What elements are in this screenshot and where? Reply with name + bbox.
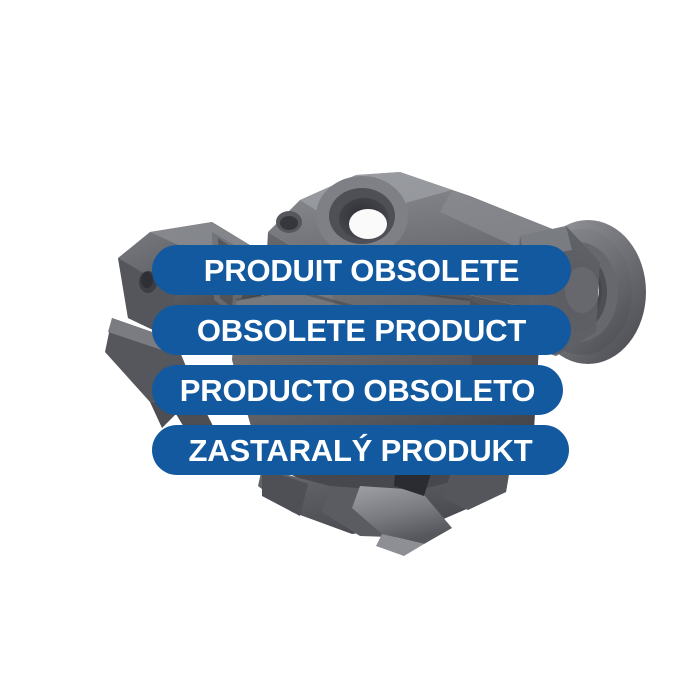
obsolete-banner-es: PRODUCTO OBSOLETO: [152, 365, 563, 415]
obsolete-banner-label-cs: ZASTARALÝ PRODUKT: [189, 435, 533, 466]
product-obsolete-overlay-image: PRODUIT OBSOLETE OBSOLETE PRODUCT PRODUC…: [0, 0, 700, 700]
obsolete-banner-label-en: OBSOLETE PRODUCT: [197, 315, 526, 346]
obsolete-banner-cs: ZASTARALÝ PRODUKT: [152, 425, 569, 475]
obsolete-banner-fr: PRODUIT OBSOLETE: [152, 245, 571, 295]
obsolete-banner-label-es: PRODUCTO OBSOLETO: [180, 375, 535, 406]
obsolete-banner-label-fr: PRODUIT OBSOLETE: [204, 255, 519, 286]
obsolete-banner-en: OBSOLETE PRODUCT: [152, 305, 571, 355]
